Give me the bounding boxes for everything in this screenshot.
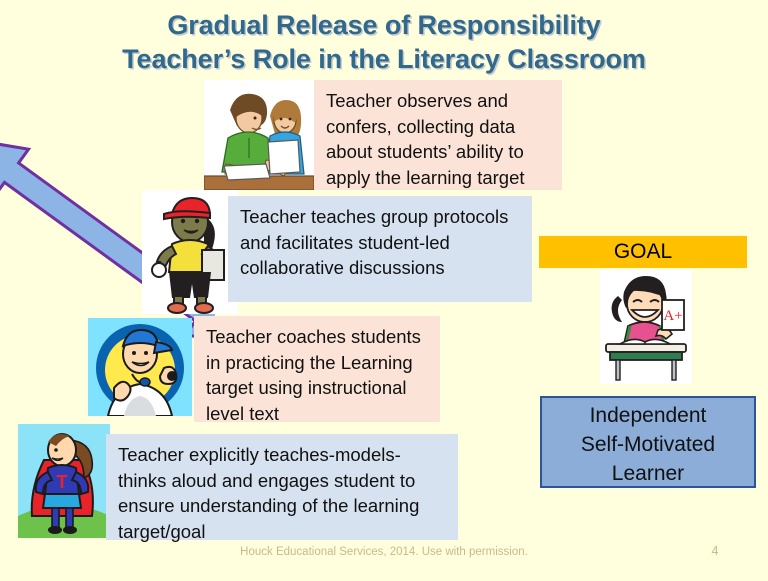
coach-whistle-image (88, 318, 192, 416)
outcome-line-2: Self-Motivated (542, 430, 754, 459)
stage-text-observe: Teacher observes and confers, collecting… (314, 80, 562, 190)
stage-text-model: Teacher explicitly teaches-models-thinks… (106, 434, 458, 540)
outcome-line-3: Learner (542, 459, 754, 488)
superhero-teacher-image: T (18, 424, 110, 538)
footer-credit: Houck Educational Services, 2014. Use wi… (0, 546, 768, 558)
goal-banner: GOAL (539, 236, 747, 268)
svg-text:A+: A+ (663, 308, 682, 324)
coach-stopwatch-image (142, 190, 238, 314)
independent-learner-box: Independent Self-Motivated Learner (540, 396, 756, 488)
page-number: 4 (700, 544, 730, 558)
slide-canvas: Gradual Release of Responsibility Teache… (0, 0, 768, 581)
page-title-line-1: Gradual Release of Responsibility (0, 8, 768, 42)
svg-text:T: T (57, 472, 68, 492)
student-a-plus-image: A+ (600, 270, 692, 384)
stage-text-group-protocols: Teacher teaches group protocols and faci… (228, 196, 532, 302)
outcome-line-1: Independent (542, 401, 754, 430)
stage-text-coach: Teacher coaches students in practicing t… (194, 316, 440, 422)
teacher-conferring-image (204, 80, 314, 190)
